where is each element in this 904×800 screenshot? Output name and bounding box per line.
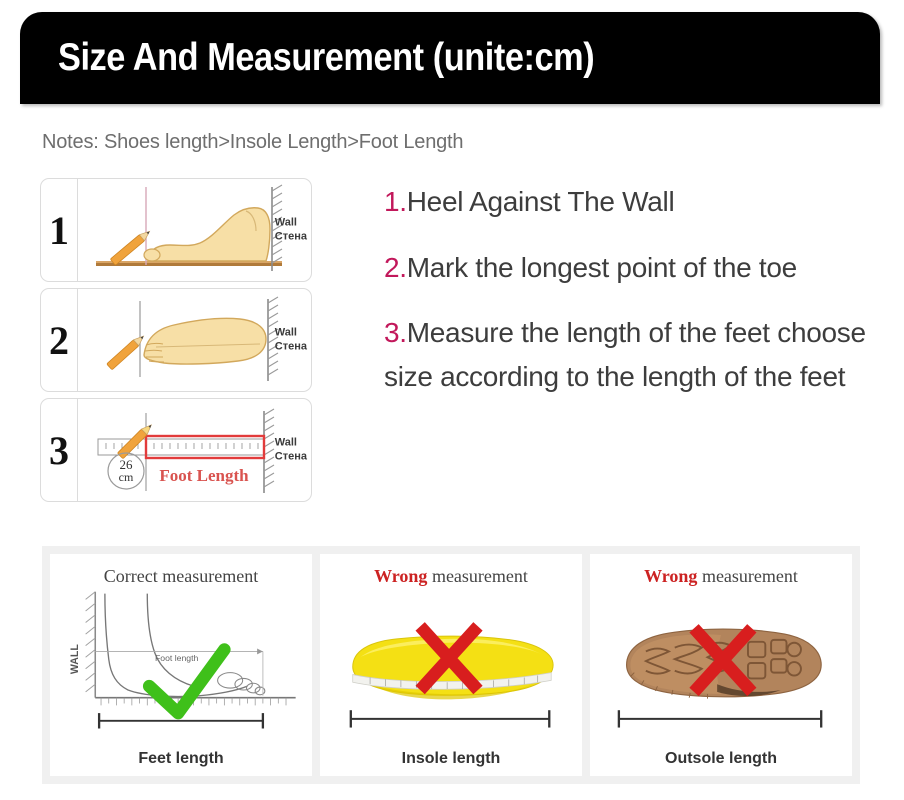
wall-label-en-2: Wall [275, 326, 307, 340]
instruction-number-3: 3. [384, 317, 407, 348]
wall-label-en-3: Wall [275, 436, 307, 450]
wall-label-ru-2: Стена [275, 340, 307, 354]
comparison-title-suffix-insole: measurement [427, 566, 527, 586]
callout-unit-text: cm [119, 470, 134, 484]
instruction-text-3: Measure the length of the feet choose si… [384, 317, 866, 392]
instruction-number-2: 2. [384, 252, 407, 283]
instruction-item-2: 2.Mark the longest point of the toe [384, 246, 884, 290]
outsole-svg [590, 584, 852, 742]
insole-illustration [320, 584, 582, 742]
foot-length-annotation-text: Foot length [155, 653, 198, 663]
wall-label-2: Wall Стена [275, 326, 307, 354]
correct-measurement-svg: WALL Foot length [50, 584, 312, 742]
step-panel-3: 3 [40, 398, 312, 502]
comparison-caption-outsole: Outsole length [590, 750, 852, 768]
comparison-status-insole: Wrong [374, 566, 427, 586]
page-title: Size And Measurement (unite:cm) [58, 36, 667, 80]
comparison-card-outsole: Wrong measurement [590, 554, 852, 776]
wall-label-1: Wall Стена [275, 216, 307, 244]
comparison-status-correct: Correct [104, 566, 158, 586]
comparison-caption-correct: Feet length [50, 750, 312, 768]
instruction-list: 1.Heel Against The Wall 2.Mark the longe… [384, 180, 884, 399]
step-number-1: 1 [41, 179, 78, 281]
outsole-illustration [590, 584, 852, 742]
step-panels: 1 [40, 178, 312, 508]
step-panel-1: 1 [40, 178, 312, 282]
comparison-title-suffix-outsole: measurement [697, 566, 797, 586]
instruction-item-3: 3.Measure the length of the feet choose … [384, 311, 884, 398]
step-number-3: 3 [41, 399, 78, 501]
page-title-text: Size And Measurement (unite:cm) [58, 36, 594, 80]
correct-illustration: WALL Foot length [50, 584, 312, 742]
step-number-2: 2 [41, 289, 78, 391]
instruction-text-2: Mark the longest point of the toe [407, 252, 797, 283]
comparison-caption-insole: Insole length [320, 750, 582, 768]
step-panel-2: 2 [40, 288, 312, 392]
header-banner: Size And Measurement (unite:cm) [20, 12, 880, 104]
comparison-title-suffix-correct: measurement [158, 566, 258, 586]
comparison-status-outsole: Wrong [644, 566, 697, 586]
comparison-section: Correct measurement WALL [42, 546, 860, 784]
instruction-item-1: 1.Heel Against The Wall [384, 180, 884, 224]
wall-label-ru-1: Стена [275, 230, 307, 244]
instruction-number-1: 1. [384, 186, 407, 217]
wall-label-en-1: Wall [275, 216, 307, 230]
wall-vertical-text: WALL [69, 644, 81, 675]
foot-length-label-text: Foot Length [159, 466, 249, 485]
comparison-card-insole: Wrong measurement [320, 554, 582, 776]
wall-label-3: Wall Стена [275, 436, 307, 464]
instruction-text-1: Heel Against The Wall [407, 186, 675, 217]
comparison-card-correct: Correct measurement WALL [50, 554, 312, 776]
insole-svg [320, 584, 582, 742]
wall-label-ru-3: Стена [275, 450, 307, 464]
notes-line: Notes: Shoes length>Insole Length>Foot L… [42, 131, 463, 154]
